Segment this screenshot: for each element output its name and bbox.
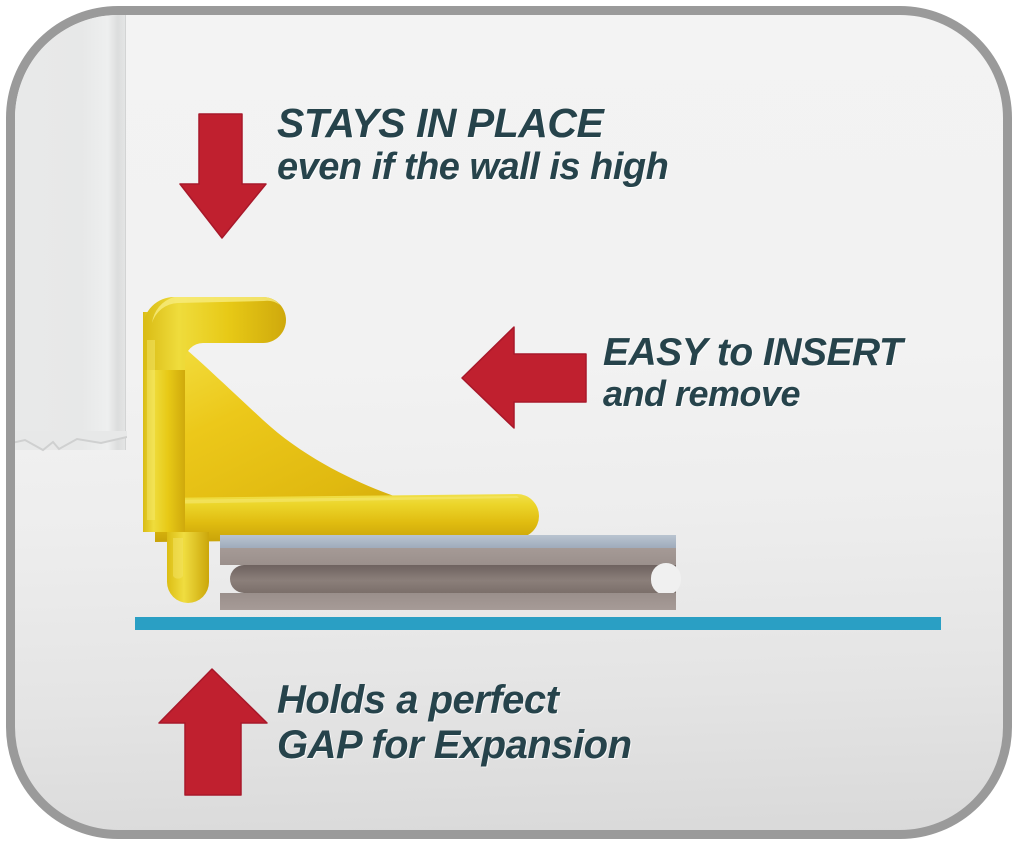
callout-gap-line1: Holds a perfect xyxy=(277,680,632,721)
plank-lower xyxy=(220,593,676,610)
diagram-canvas: STAYS IN PLACE even if the wall is high … xyxy=(0,0,1024,849)
arrow-left-icon xyxy=(460,324,588,432)
rounded-panel: STAYS IN PLACE even if the wall is high … xyxy=(6,6,1012,839)
callout-gap-for-expansion: Holds a perfect GAP for Expansion xyxy=(277,680,632,766)
callout-stays-line2: even if the wall is high xyxy=(277,148,668,187)
plank-core-notch xyxy=(651,563,681,595)
plank-top-surface xyxy=(220,535,676,548)
callout-easy-to-insert: EASY to INSERT and remove xyxy=(603,333,902,412)
arrow-up-icon xyxy=(157,667,269,797)
callout-stays-line1: STAYS IN PLACE xyxy=(277,103,668,145)
callout-easy-line2: and remove xyxy=(603,376,902,413)
callout-gap-line2: GAP for Expansion xyxy=(277,725,632,766)
arrow-down-icon xyxy=(178,112,268,240)
callout-stays-in-place: STAYS IN PLACE even if the wall is high xyxy=(277,103,668,187)
plank-upper-core xyxy=(220,548,676,565)
wall-broken-edge-icon xyxy=(6,431,127,461)
underlayment-line xyxy=(135,617,941,630)
callout-easy-line1: EASY to INSERT xyxy=(603,333,902,373)
plank-core xyxy=(230,565,676,593)
wall-panel xyxy=(6,6,126,450)
